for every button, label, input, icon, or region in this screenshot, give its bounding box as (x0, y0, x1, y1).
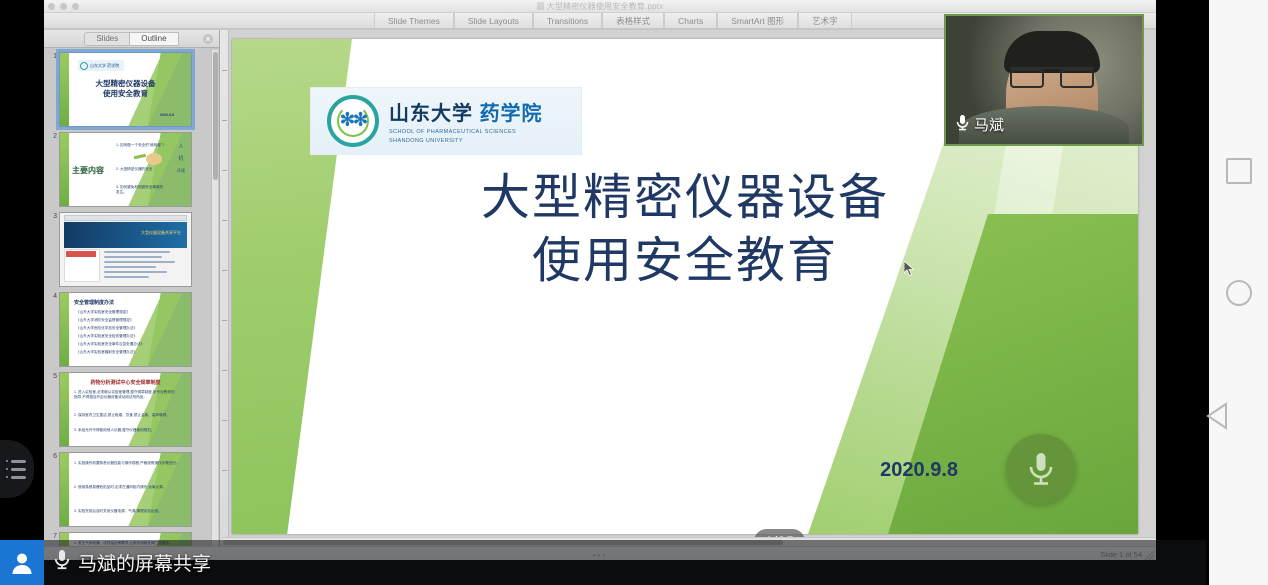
tab-transitions[interactable]: Transitions (533, 13, 602, 28)
participant-video-tile[interactable]: 马斌 (944, 14, 1144, 146)
sidebar-tab-label: Slides (96, 34, 118, 43)
thumb-side-text: 人机环境 (177, 141, 185, 177)
participant-name-badge: 马斌 (956, 114, 1004, 135)
slide-thumbnail-1[interactable]: 山东大学 药学院 大型精密仪器设备使用安全教育 2020.9.8 (59, 52, 192, 127)
sidebar-tab-outline[interactable]: Outline (129, 32, 178, 46)
handle-row (6, 468, 34, 471)
slide-thumbnail-5[interactable]: 药物分析测试中心安全规章制度 1. 进入实验室,必须服从实验室管理,遵守规章制度… (59, 372, 192, 447)
tab-label: Charts (678, 16, 703, 26)
list-item[interactable]: 1 山东大学 药学院 大型精密仪器设备使用安全教育 2020.9.8 (48, 52, 210, 127)
tab-label: Slide Themes (388, 16, 440, 26)
slide-number: 1 (48, 52, 59, 60)
sidebar-tabbar[interactable]: Slides Outline (44, 30, 219, 48)
thumb-bullet: 3. 如何避免和规避安全事故的发生。 (116, 185, 166, 196)
recents-square-button[interactable] (1226, 158, 1252, 184)
video-glasses (1010, 67, 1094, 83)
handle-row (6, 476, 34, 479)
slide-title-line-2: 使用安全教育 (232, 230, 1138, 293)
tab-smartart[interactable]: SmartArt 图形 (717, 13, 798, 28)
tab-slide-layouts[interactable]: Slide Layouts (454, 13, 533, 28)
microphone-icon (956, 114, 969, 135)
tab-table-styles[interactable]: 表格样式 (602, 13, 664, 28)
list-menu-handle[interactable] (0, 440, 34, 498)
back-triangle-button[interactable] (1228, 402, 1250, 430)
home-circle-button[interactable] (1226, 280, 1252, 306)
thumb-title: 药物分析测试中心安全规章制度 (60, 379, 191, 386)
share-label-text: 马斌的屏幕共享 (78, 549, 211, 576)
slide-thumbnail-6[interactable]: 1. 实验操作前要熟悉仪器性能与操作规程,严格按照操作步骤进行。 2. 使用易燃… (59, 452, 192, 527)
sidebar-tab-label: Outline (141, 34, 166, 43)
theme-left-bar (60, 133, 69, 206)
page-title[interactable]: 大型精密仪器设备 使用安全教育 (232, 167, 1138, 292)
logo-text-block: 山东大学 药学院 SCHOOL OF PHARMACEUTICAL SCIENC… (389, 97, 543, 145)
sidebar-scrollbar[interactable] (211, 50, 218, 558)
thumb-banner: 大型仪器设备共享平台 (64, 222, 187, 248)
tab-slide-themes[interactable]: Slide Themes (374, 13, 454, 28)
dna-helix-logo-mark: ✻✻ (327, 95, 379, 147)
thumb-bullet: 《山东大学实验室安全检查管理办法》 (76, 334, 137, 339)
slide-thumbnail-list[interactable]: 1 山东大学 药学院 大型精密仪器设备使用安全教育 2020.9.8 (44, 48, 210, 560)
thumb-button (66, 251, 96, 257)
list-item[interactable]: 3 大型仪器设备共享平台 (48, 212, 210, 287)
mouse-pointer (904, 261, 915, 276)
document-title-text: 大型精密仪器使用安全教育.pptx (547, 2, 664, 11)
thumb-bullet: 《山东大学危险化学品安全管理办法》 (76, 326, 137, 331)
slide-number: 4 (48, 292, 59, 300)
thumb-text-lines (104, 251, 185, 281)
thumb-logo: 山东大学 药学院 (78, 60, 124, 71)
window-titlebar: 大型精密仪器使用安全教育.pptx (44, 0, 1156, 13)
microphone-button[interactable] (1006, 434, 1076, 504)
slide-thumbnail-2[interactable]: 主要内容 1. 如何做一个安全的"使用者"? 2. 大型精密仪器的安全 3. 如… (59, 132, 192, 207)
tab-label: 艺术字 (812, 15, 838, 27)
slide-number: 6 (48, 452, 59, 460)
slide-thumbnail-4[interactable]: 安全管理制度办法 《山东大学实验室安全管理规定》 《山东大学消防安全监督管理规定… (59, 292, 192, 367)
logo-english-name: SCHOOL OF PHARMACEUTICAL SCIENCES SHANDO… (389, 128, 543, 145)
thumb-browser-chrome (64, 215, 187, 221)
handle-row (6, 460, 34, 463)
thumb-bullet: 2. 大型精密仪器的安全 (116, 167, 174, 172)
screen-share-bar: 马斌的屏幕共享 (0, 540, 1206, 585)
tab-label: 表格样式 (616, 15, 650, 27)
slide-number: 7 (48, 532, 59, 540)
list-item[interactable]: 5 药物分析测试中心安全规章制度 1. 进入实验室,必须服从实验室管理,遵守规章… (48, 372, 210, 447)
list-item[interactable]: 4 安全管理制度办法 《山东大学实验室安全管理规定》 《山东大学消防安全监督管理… (48, 292, 210, 367)
slide-title-line-1: 大型精密仪器设备 (232, 167, 1138, 230)
tab-label: Transitions (547, 16, 588, 26)
thumb-bullet: 《山东大学实验室辐射安全管理办法》 (76, 350, 137, 355)
pptx-file-icon (537, 2, 544, 10)
logo-department: 药学院 (480, 103, 543, 125)
microphone-icon (54, 549, 70, 576)
thumb-bullet: 1. 实验操作前要熟悉仪器性能与操作规程,严格按照操作步骤进行。 (74, 461, 180, 466)
thumb-bullet: 《山东大学实验室安全事件应急处置办法》 (76, 342, 144, 347)
thumb-bullet: 1. 如何做一个安全的"使用者"? (116, 143, 174, 148)
logo-glyph: ✻✻ (340, 110, 366, 131)
thumb-bullet: 2. 使用易燃易爆危险品时,必须在通风柜内操作,远离火源。 (74, 485, 180, 490)
slide-thumbnail-3[interactable]: 大型仪器设备共享平台 (59, 212, 192, 287)
logo-chinese-name: 山东大学 药学院 (389, 97, 543, 126)
list-item[interactable]: 6 1. 实验操作前要熟悉仪器性能与操作规程,严格按照操作步骤进行。 2. 使用… (48, 452, 210, 527)
slide-navigator-sidebar: Slides Outline 1 (44, 30, 220, 560)
thumb-bullet: 《山东大学实验室安全管理规定》 (76, 310, 130, 315)
thumb-clipart (146, 153, 162, 165)
thumb-title: 大型精密仪器设备使用安全教育 (60, 79, 191, 99)
document-title: 大型精密仪器使用安全教育.pptx (44, 1, 1156, 12)
thumb-title: 安全管理制度办法 (74, 299, 114, 306)
close-icon[interactable] (203, 34, 213, 44)
logo-en-line2: SHANDONG UNIVERSITY (389, 137, 543, 145)
list-item[interactable]: 2 主要内容 1. 如何做一个安全的"使用者"? 2. 大型精密仪器的安全 3.… (48, 132, 210, 207)
person-icon[interactable] (0, 540, 44, 585)
theme-left-bar (60, 453, 69, 526)
slide-date: 2020.9.8 (880, 459, 958, 482)
vertical-ruler (220, 30, 229, 560)
thumb-title: 主要内容 (72, 165, 104, 176)
device-screen: 大型精密仪器使用安全教育.pptx Slide Themes Slide Lay… (0, 0, 1268, 585)
university-logo: ✻✻ 山东大学 药学院 SCHOOL OF PHARMACEUTICAL SCI… (310, 87, 582, 155)
share-status-label: 马斌的屏幕共享 (54, 549, 211, 576)
logo-university: 山东大学 (389, 103, 473, 125)
tab-wordart[interactable]: 艺术字 (798, 13, 852, 28)
thumb-date: 2020.9.8 (160, 113, 174, 117)
tab-label: Slide Layouts (468, 16, 519, 26)
theme-left-bar (60, 293, 69, 366)
slide-number: 2 (48, 132, 59, 140)
scrollbar-thumb[interactable] (213, 52, 218, 180)
tab-label: SmartArt 图形 (731, 15, 784, 27)
thumb-bullet: 2. 保持室内卫生整洁,禁止吸烟、饮食,禁止会客、高声喧哗。 (74, 413, 178, 418)
thumb-bullet: 1. 进入实验室,必须服从实验室管理,遵守规章制度,听专业教师的指导,不得擅自开… (74, 390, 178, 401)
thumb-bullet: 3. 未经允许不得使用他人仪器,遵守仪器使用规范。 (74, 428, 178, 433)
logo-en-line1: SCHOOL OF PHARMACEUTICAL SCIENCES (389, 128, 543, 136)
slide-number: 5 (48, 372, 59, 380)
tab-charts[interactable]: Charts (664, 13, 717, 28)
sidebar-tab-slides[interactable]: Slides (84, 32, 129, 46)
thumb-bullet: 《山东大学消防安全监督管理规定》 (76, 318, 134, 323)
shared-screen-viewport: 大型精密仪器使用安全教育.pptx Slide Themes Slide Lay… (0, 0, 1206, 585)
participant-name: 马斌 (974, 114, 1004, 135)
android-navigation-bar (1206, 0, 1268, 585)
slide-number: 3 (48, 212, 59, 220)
thumb-bullet: 3. 实验完成后及时关闭仪器电源、气源,清理实验台面。 (74, 509, 180, 514)
